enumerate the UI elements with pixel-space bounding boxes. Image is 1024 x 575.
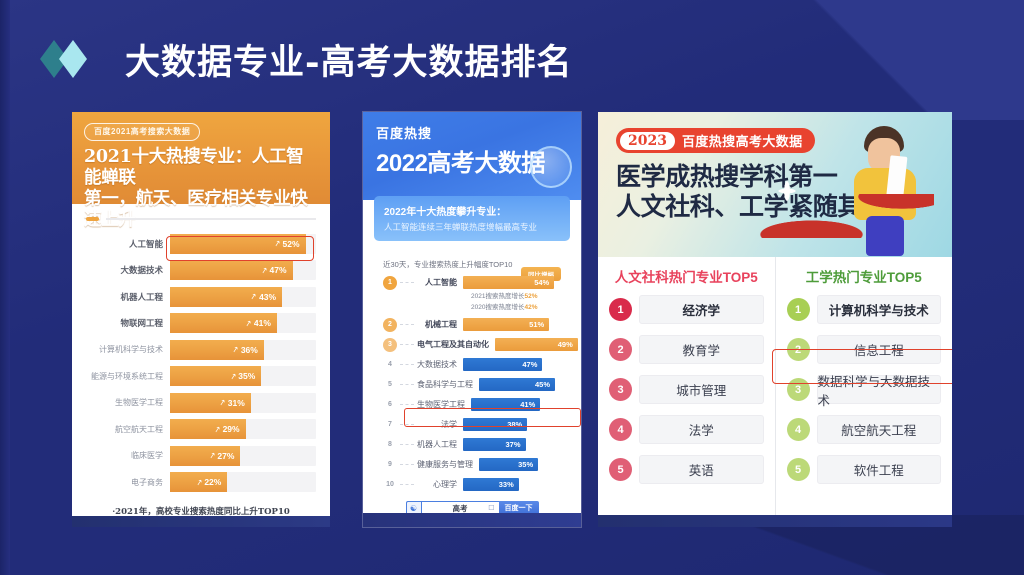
major-name: 英语 (639, 455, 764, 484)
major-name: 城市管理 (639, 375, 764, 404)
list-item[interactable]: 4法学 (609, 415, 764, 444)
panel-2022-infographic[interactable]: 百度热搜 2022高考大数据 2022年十大热度攀升专业： 人工智能连续三年蝉联… (363, 112, 581, 527)
camera-icon[interactable]: ☐ (488, 504, 494, 512)
panel-2023-bottom-bar (598, 515, 952, 527)
bar-track: 35% (479, 458, 577, 471)
background-diagonal-top (694, 0, 1024, 120)
column-humanities-title-text: 人文社科热门专业TOP5 (615, 270, 758, 285)
list-item[interactable]: 1计算机科学与技术 (787, 295, 942, 324)
rank-badge: 2 (609, 338, 632, 361)
trend-up-icon: ↗ (260, 265, 268, 275)
trend-up-icon: ↗ (195, 477, 203, 487)
diamond-cyan-icon (59, 40, 87, 78)
bar-value: 49% (558, 340, 573, 349)
bar-value: 52% (283, 239, 300, 249)
bar-value: 37% (506, 440, 521, 449)
bar-row: 生物医学工程↗31% (86, 392, 316, 413)
bar-value: 35% (518, 460, 533, 469)
bar-fill: 47% (463, 358, 542, 371)
bar-row: 物联网工程↗41% (86, 313, 316, 334)
panel-2022-bottom-bar (363, 513, 581, 527)
rank-badge: 4 (383, 358, 397, 372)
bar-label: 机器人工程 (417, 439, 463, 450)
bar-value: 31% (228, 398, 245, 408)
sub-note: 2021搜索热度增长52% (471, 292, 561, 301)
bar-track: ↗47% (170, 260, 316, 280)
bar-fill: ↗27% (170, 446, 240, 466)
dotted-leader (400, 484, 414, 485)
panel-2022-header: 百度热搜 2022高考大数据 (363, 112, 581, 200)
panel-2023-header: 2023 百度热搜高考大数据 医学成热搜学科第一 人文社科、工学紧随其后 (598, 112, 952, 257)
bar-label: 大数据技术 (417, 359, 463, 370)
bar-fill: 51% (463, 318, 549, 331)
panel-2021-infographic[interactable]: 百度2021高考搜索大数据 2021十大热搜专业：人工智能蝉联 第一，航天、医疗… (72, 112, 330, 527)
dotted-leader (400, 384, 414, 385)
panel-2021-bottom-bar (72, 516, 330, 527)
column-humanities: 人文社科热门专业TOP5 1经济学2教育学3城市管理4法学5英语 (598, 257, 776, 515)
engineering-list: 1计算机科学与技术2信息工程3数据科学与大数据技术4航空航天工程5软件工程 (787, 295, 942, 484)
dotted-leader (400, 364, 414, 365)
panel-2021-header: 百度2021高考搜索大数据 2021十大热搜专业：人工智能蝉联 第一，航天、医疗… (72, 112, 330, 204)
rank-badge: 2 (787, 338, 810, 361)
rank-badge: 10 (383, 478, 397, 492)
bar-row: 大数据技术↗47% (86, 260, 316, 281)
trend-up-icon: ↗ (229, 371, 237, 381)
rank-badge: 3 (787, 378, 810, 401)
bar-row: 3电气工程及其自动化49% (383, 337, 561, 352)
ribbon-shape (759, 194, 934, 238)
bar-value: 47% (270, 265, 287, 275)
bar-fill: ↗43% (170, 287, 282, 307)
panel-2022-bar-rows: 1人工智能54%2021搜索热度增长52%2020搜索热度增长42%2机械工程5… (383, 275, 561, 492)
list-item[interactable]: 1经济学 (609, 295, 764, 324)
bar-label: 物联网工程 (86, 317, 170, 329)
bar-track: 47% (463, 358, 561, 371)
bar-fill: 41% (471, 398, 540, 411)
bar-row: 10心理学33% (383, 477, 561, 492)
rank-badge: 1 (787, 298, 810, 321)
bar-label: 能源与环境系统工程 (86, 371, 170, 382)
bar-value: 33% (499, 480, 514, 489)
bar-fill: ↗41% (170, 313, 277, 333)
list-item[interactable]: 2信息工程 (787, 335, 942, 364)
bar-fill: 37% (463, 438, 526, 451)
bar-track: 51% (463, 318, 561, 331)
rank-badge: 2 (383, 318, 397, 332)
rank-badge: 5 (787, 458, 810, 481)
panel-2022-kicker: 百度热搜 (376, 123, 568, 142)
bar-row: 7法学38% (383, 417, 561, 432)
rank-badge: 1 (609, 298, 632, 321)
bar-label: 人工智能 (417, 277, 463, 288)
rank-badge: 5 (383, 378, 397, 392)
bar-row: 计算机科学与技术↗36% (86, 339, 316, 360)
bar-label: 生物医学工程 (417, 399, 471, 410)
bar-fill: ↗31% (170, 393, 251, 413)
dotted-leader (400, 344, 414, 345)
bar-fill: 45% (479, 378, 555, 391)
bar-row: 2机械工程51% (383, 317, 561, 332)
rank-badge: 6 (383, 398, 397, 412)
panel-2021-title-line1: 2021十大热搜专业：人工智能蝉联 (84, 147, 318, 189)
bar-value: 51% (529, 320, 544, 329)
magnifier-icon (530, 146, 572, 188)
bar-track: 38% (463, 418, 561, 431)
dotted-leader (400, 424, 414, 425)
bar-track: ↗41% (170, 313, 316, 333)
bar-label: 食品科学与工程 (417, 379, 479, 390)
major-name: 教育学 (639, 335, 764, 364)
column-engineering: 工学热门专业TOP5 1计算机科学与技术2信息工程3数据科学与大数据技术4航空航… (776, 257, 953, 515)
bar-track: 49% (495, 338, 581, 351)
column-engineering-title: 工学热门专业TOP5 (787, 266, 942, 286)
panel-2023-columns: 人文社科热门专业TOP5 1经济学2教育学3城市管理4法学5英语 工学热门专业T… (598, 257, 952, 515)
list-item[interactable]: 3城市管理 (609, 375, 764, 404)
rank-badge: 5 (609, 458, 632, 481)
major-name: 经济学 (639, 295, 764, 324)
bar-label: 电气工程及其自动化 (417, 339, 495, 350)
bar-label: 人工智能 (86, 238, 170, 250)
list-item[interactable]: 3数据科学与大数据技术 (787, 375, 942, 404)
bar-value: 29% (223, 424, 240, 434)
bar-label: 航空航天工程 (86, 424, 170, 435)
dotted-leader (400, 282, 414, 283)
humanities-list: 1经济学2教育学3城市管理4法学5英语 (609, 295, 764, 484)
trend-up-icon: ↗ (231, 344, 239, 354)
bar-row: 航空航天工程↗29% (86, 419, 316, 440)
bar-track: 37% (463, 438, 561, 451)
trend-up-icon: ↗ (218, 397, 226, 407)
panel-2021-footer: ·2021年，高校专业搜索热度同比上升TOP10 (86, 505, 316, 517)
major-name: 法学 (639, 415, 764, 444)
bar-label: 机器人工程 (86, 291, 170, 303)
major-name: 软件工程 (817, 455, 942, 484)
panel-2022-subtitle-line1: 2022年十大热度攀升专业： (384, 203, 560, 218)
bar-fill: 38% (463, 418, 527, 431)
bar-fill: 35% (479, 458, 538, 471)
list-item[interactable]: 5英语 (609, 455, 764, 484)
panel-2022-subtitle: 2022年十大热度攀升专业： 人工智能连续三年蝉联热度增幅最高专业 (374, 196, 570, 241)
rank-badge: 3 (383, 338, 397, 352)
rank-badge: 1 (383, 276, 397, 290)
panel-2023-badge: 2023 百度热搜高考大数据 (616, 128, 815, 153)
rank-badge: 3 (609, 378, 632, 401)
trend-up-icon: ↗ (213, 424, 221, 434)
bar-value: 35% (238, 371, 255, 381)
bar-label: 健康服务与管理 (417, 459, 479, 470)
bar-row: 临床医学↗27% (86, 445, 316, 466)
bar-fill: ↗47% (170, 260, 293, 280)
bar-track: 54% (463, 276, 561, 289)
bar-value: 27% (217, 451, 234, 461)
bar-row: 8机器人工程37% (383, 437, 561, 452)
sub-note: 2020搜索热度增长42% (471, 303, 561, 312)
bar-row: 电子商务↗22% (86, 472, 316, 493)
bar-value: 38% (507, 420, 522, 429)
major-name: 信息工程 (817, 335, 942, 364)
bar-label: 生物医学工程 (86, 397, 170, 408)
rank-badge: 8 (383, 438, 397, 452)
bar-value: 36% (241, 345, 258, 355)
bar-row: 机器人工程↗43% (86, 286, 316, 307)
panel-2021-badge: 百度2021高考搜索大数据 (84, 123, 200, 141)
rule-line (106, 218, 316, 220)
background-left-edge (0, 0, 10, 575)
dotted-leader (400, 324, 414, 325)
panel-2022-chart-card: 近30天，专业搜索热度上升幅度TOP10 同比增幅 1人工智能54%2021搜索… (374, 250, 570, 527)
bar-label: 心理学 (417, 479, 463, 490)
bar-label: 计算机科学与技术 (86, 344, 170, 355)
column-engineering-title-text: 工学热门专业TOP5 (806, 270, 922, 285)
trend-up-icon: ↗ (208, 450, 216, 460)
bar-row: 能源与环境系统工程↗35% (86, 366, 316, 387)
bar-label: 大数据技术 (86, 264, 170, 276)
list-item[interactable]: 4航空航天工程 (787, 415, 942, 444)
slide-header: 大数据专业-高考大数据排名 (40, 28, 573, 90)
bar-label: 电子商务 (86, 477, 170, 488)
dotted-leader (400, 464, 414, 465)
rank-badge: 4 (787, 418, 810, 441)
panel-2023-badge-text: 百度热搜高考大数据 (682, 131, 803, 150)
rank-badge: 9 (383, 458, 397, 472)
rule-dash-icon (86, 217, 99, 221)
bar-row: 6生物医学工程41% (383, 397, 561, 412)
bar-fill: ↗35% (170, 366, 261, 386)
dotted-leader (400, 404, 414, 405)
rank-badge: 4 (609, 418, 632, 441)
bar-track: ↗52% (170, 234, 316, 254)
page-title: 大数据专业-高考大数据排名 (125, 34, 573, 85)
bar-fill: ↗22% (170, 472, 227, 492)
list-item[interactable]: 5软件工程 (787, 455, 942, 484)
dotted-leader (400, 444, 414, 445)
bar-track: 41% (471, 398, 569, 411)
bar-value: 43% (259, 292, 276, 302)
panel-2021-rule (86, 217, 316, 221)
bar-value: 41% (254, 318, 271, 328)
panel-2022-subtitle-line2: 人工智能连续三年蝉联热度增幅最高专业 (384, 221, 560, 233)
rank-badge: 7 (383, 418, 397, 432)
bar-track: ↗29% (170, 419, 316, 439)
bar-fill: 49% (495, 338, 578, 351)
bar-fill: ↗36% (170, 340, 264, 360)
bar-fill: ↗29% (170, 419, 246, 439)
major-name: 航空航天工程 (817, 415, 942, 444)
bar-fill: 33% (463, 478, 519, 491)
bar-label: 机械工程 (417, 319, 463, 330)
column-humanities-title: 人文社科热门专业TOP5 (609, 266, 764, 286)
panel-2023-infographic[interactable]: 2023 百度热搜高考大数据 医学成热搜学科第一 人文社科、工学紧随其后 人文社… (598, 112, 952, 527)
bar-fill: 54% (463, 276, 554, 289)
search-input-value: 高考 (453, 503, 468, 514)
bar-track: ↗27% (170, 446, 316, 466)
bar-label: 临床医学 (86, 450, 170, 461)
bar-row: 1人工智能54% (383, 275, 561, 290)
bar-value: 47% (522, 360, 537, 369)
bar-row: 5食品科学与工程45% (383, 377, 561, 392)
trend-up-icon: ↗ (244, 318, 252, 328)
bar-track: ↗35% (170, 366, 316, 386)
panel-2021-bar-rows: 人工智能↗52%大数据技术↗47%机器人工程↗43%物联网工程↗41%计算机科学… (86, 233, 316, 493)
bar-value: 54% (534, 278, 549, 287)
bar-label: 法学 (417, 419, 463, 430)
panel-2021-chart: 人工智能↗52%大数据技术↗47%机器人工程↗43%物联网工程↗41%计算机科学… (72, 204, 330, 517)
bar-value: 45% (535, 380, 550, 389)
bar-value: 22% (204, 477, 221, 487)
bar-track: ↗36% (170, 340, 316, 360)
bar-track: ↗22% (170, 472, 316, 492)
bar-value: 41% (520, 400, 535, 409)
list-item[interactable]: 2教育学 (609, 335, 764, 364)
trend-up-icon: ↗ (250, 291, 258, 301)
major-name: 计算机科学与技术 (817, 295, 942, 324)
diamond-bullet-icon (40, 40, 87, 78)
bar-track: 45% (479, 378, 577, 391)
bar-track: 33% (463, 478, 561, 491)
trend-up-icon: ↗ (273, 238, 281, 248)
bar-row: 4大数据技术47% (383, 357, 561, 372)
bar-track: ↗31% (170, 393, 316, 413)
bar-row: 人工智能↗52% (86, 233, 316, 254)
bar-row: 9健康服务与管理35% (383, 457, 561, 472)
major-name: 数据科学与大数据技术 (817, 375, 942, 404)
panel-2023-year: 2023 (620, 132, 675, 150)
bar-track: ↗43% (170, 287, 316, 307)
bar-fill: ↗52% (170, 234, 306, 254)
